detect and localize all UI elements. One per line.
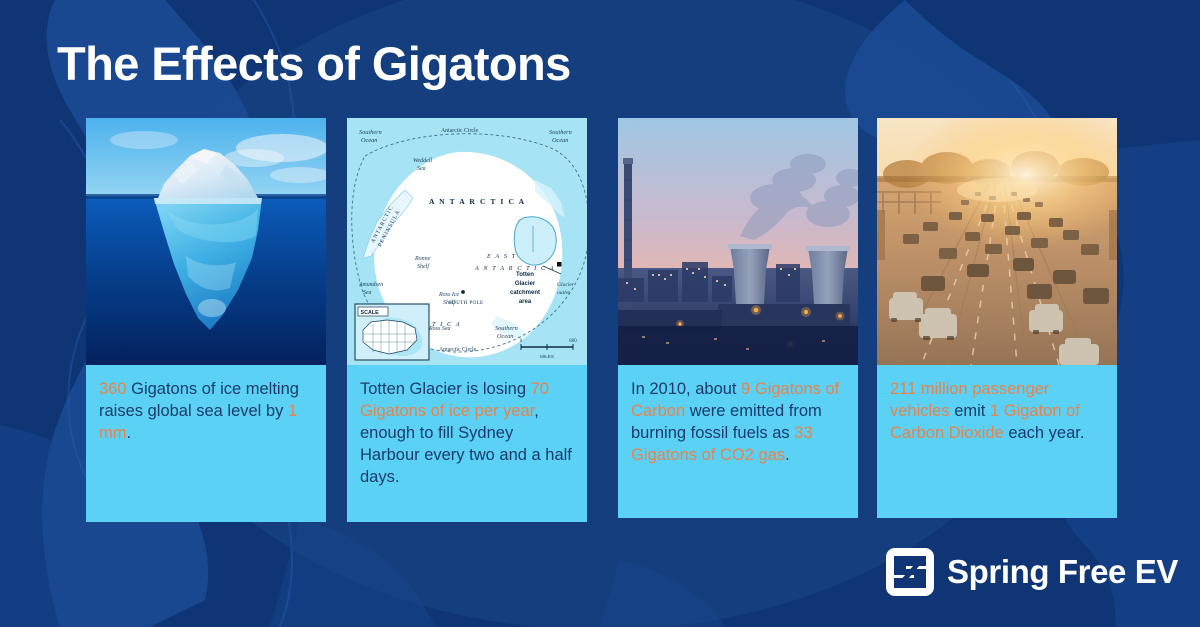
power-plant-photo [618, 118, 858, 365]
svg-text:Antarctic Circle: Antarctic Circle [439, 347, 477, 353]
caption-totten-glacier: Totten Glacier is losing 70 Gigatons of … [347, 365, 587, 522]
svg-text:Amundsen: Amundsen [358, 282, 383, 288]
caption-segment: emit [950, 402, 990, 420]
svg-text:Sea: Sea [363, 290, 371, 296]
svg-text:Southern: Southern [359, 129, 382, 136]
svg-text:Totten: Totten [516, 272, 534, 278]
caption-fossil-fuels: In 2010, about 9 Gigatons of Carbon were… [618, 365, 858, 518]
svg-text:Ronne: Ronne [414, 256, 431, 262]
caption-segment-highlight: 360 [99, 380, 127, 398]
caption-segment: Gigatons of ice melting raises global se… [99, 380, 299, 420]
brand-logo: Spring Free EV [886, 548, 1178, 596]
svg-text:Ross Ice: Ross Ice [438, 292, 459, 298]
svg-text:Ocean: Ocean [552, 137, 568, 144]
svg-text:E A S T: E A S T [486, 253, 517, 260]
svg-text:Shelf: Shelf [417, 263, 430, 270]
svg-text:Glacier: Glacier [515, 281, 536, 287]
svg-text:SCALE: SCALE [361, 310, 380, 316]
caption-passenger-vehicles: 211 million passenger vehicles emit 1 Gi… [877, 365, 1117, 518]
fact-card-passenger-vehicles: 211 million passenger vehicles emit 1 Gi… [877, 118, 1117, 518]
highway-traffic-photo [877, 118, 1117, 365]
fact-card-totten-glacier: Southern Ocean Southern Ocean Antarctic … [347, 118, 587, 522]
fact-card-iceberg: 360 Gigatons of ice melting raises globa… [86, 118, 326, 522]
caption-segment: . [127, 424, 132, 442]
page-title: The Effects of Gigatons [57, 36, 571, 91]
svg-text:MILES: MILES [540, 354, 554, 359]
brand-name: Spring Free EV [947, 553, 1178, 591]
caption-segment: . [785, 446, 790, 464]
svg-text:Sea: Sea [417, 166, 426, 172]
antarctica-map: Southern Ocean Southern Ocean Antarctic … [347, 118, 587, 365]
svg-text:A N T A R C T I C A: A N T A R C T I C A [429, 197, 526, 206]
svg-text:Glacier: Glacier [557, 282, 575, 288]
svg-text:outlet: outlet [557, 290, 570, 296]
svg-text:Southern: Southern [495, 325, 518, 332]
svg-text:A N T A R C T I C A: A N T A R C T I C A [474, 265, 555, 272]
svg-text:Ocean: Ocean [361, 137, 377, 144]
svg-text:800: 800 [569, 339, 577, 344]
caption-segment: each year. [1004, 424, 1085, 442]
svg-text:Southern: Southern [549, 129, 572, 136]
svg-text:SOUTH POLE: SOUTH POLE [449, 301, 483, 306]
svg-text:catchment: catchment [510, 290, 540, 296]
caption-segment: In 2010, about [631, 380, 741, 398]
caption-segment: Totten Glacier is losing [360, 380, 531, 398]
svg-text:area: area [519, 299, 532, 305]
fact-card-fossil-fuels: In 2010, about 9 Gigatons of Carbon were… [618, 118, 858, 518]
svg-text:Weddell: Weddell [413, 158, 432, 164]
svg-text:Ocean: Ocean [497, 333, 513, 340]
iceberg-photo [86, 118, 326, 365]
svg-text:Antarctic Circle: Antarctic Circle [441, 128, 479, 134]
spring-free-ev-monogram-icon [886, 548, 934, 596]
caption-iceberg: 360 Gigatons of ice melting raises globa… [86, 365, 326, 522]
